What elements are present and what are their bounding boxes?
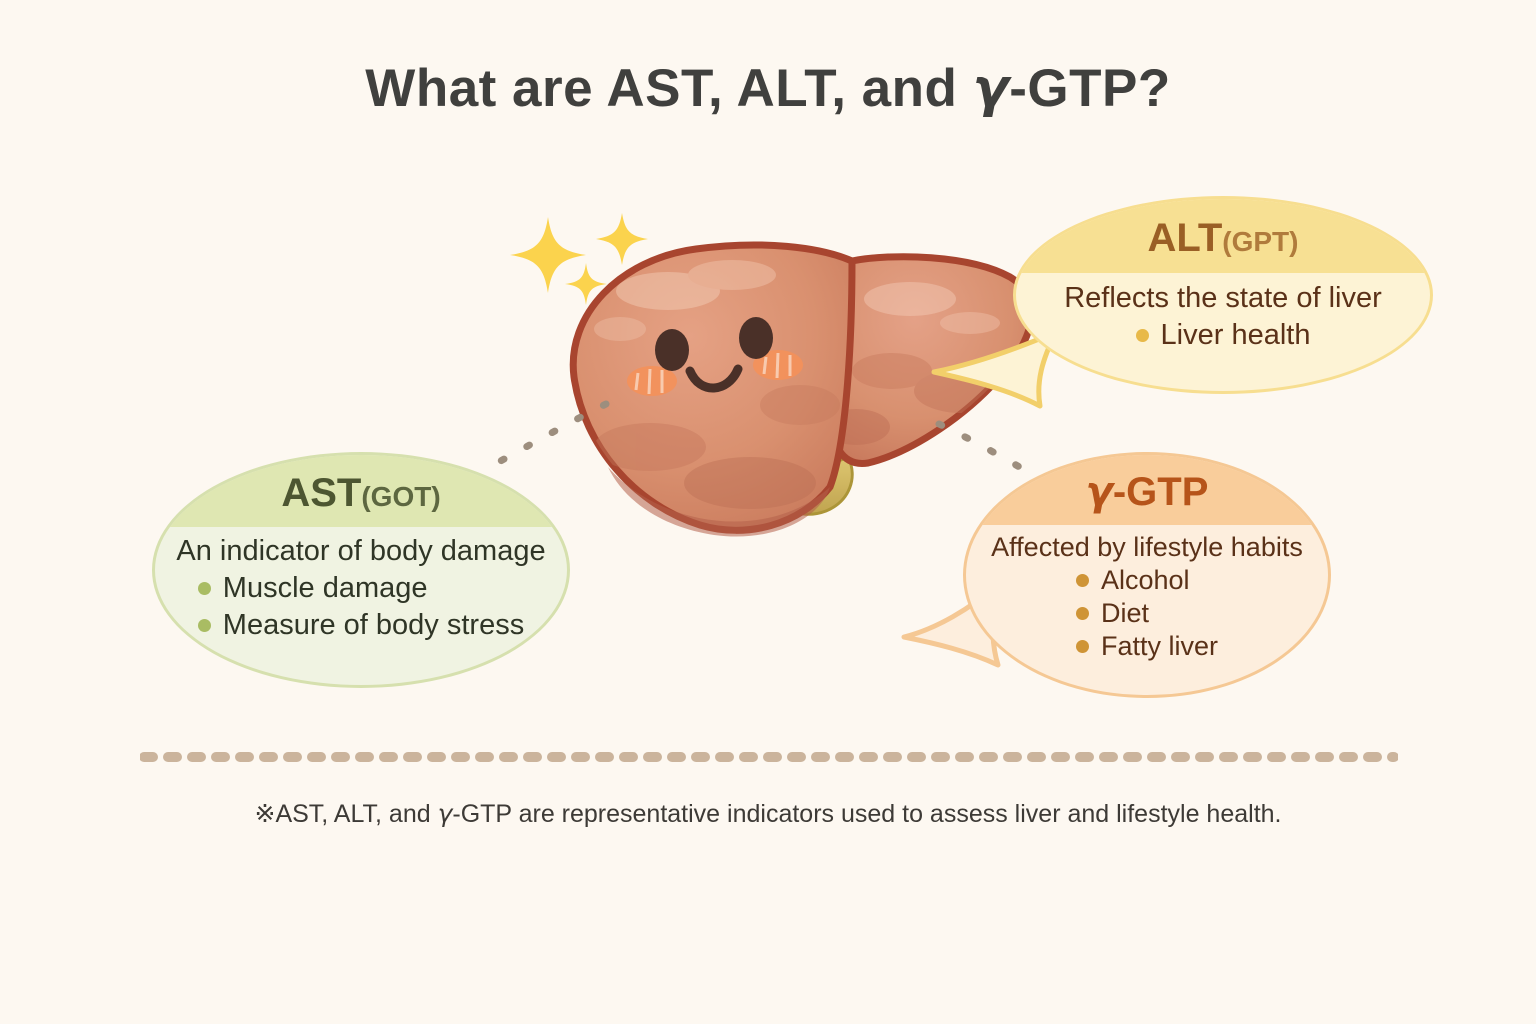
bubble-alt-lead: Reflects the state of liver — [1016, 282, 1430, 315]
infographic-canvas: What are AST, ALT, and γ-GTP? — [0, 0, 1536, 1024]
page-title: What are AST, ALT, and γ-GTP? — [0, 58, 1536, 119]
bubble-alt-body: Reflects the state of liver Liver health — [1016, 273, 1430, 352]
bubble-alt-alias: (GPT) — [1222, 226, 1298, 257]
page-title-suffix: -GTP? — [1009, 59, 1170, 118]
list-item-label: Diet — [1101, 598, 1149, 629]
dotted-divider — [140, 750, 1398, 764]
footnote: ※AST, ALT, and γ-GTP are representative … — [0, 799, 1536, 829]
bubble-ggtp-list: Alcohol Diet Fatty liver — [1076, 563, 1218, 662]
list-item: Diet — [1076, 598, 1218, 629]
bubble-ast-code: AST — [281, 471, 361, 515]
bullet-dot-icon — [198, 582, 211, 595]
sparkle-large-icon — [510, 217, 586, 293]
footnote-suffix: -GTP are representative indicators used … — [452, 800, 1281, 828]
footnote-prefix: AST, ALT, and — [275, 800, 437, 828]
bubble-ast-lead: An indicator of body damage — [155, 535, 567, 568]
bubble-alt-code: ALT — [1147, 216, 1222, 260]
page-title-gamma: γ — [973, 58, 1010, 119]
bubble-ast[interactable]: AST(GOT) An indicator of body damage Mus… — [152, 452, 570, 688]
bubble-ast-list: Muscle damage Measure of body stress — [198, 568, 524, 642]
footnote-mark: ※ — [254, 800, 275, 828]
bubble-alt-header: ALT(GPT) — [1016, 199, 1430, 273]
list-item-label: Liver health — [1161, 319, 1311, 352]
list-item-label: Measure of body stress — [223, 609, 524, 642]
list-item-label: Fatty liver — [1101, 631, 1218, 662]
list-item: Liver health — [1136, 319, 1311, 352]
list-item: Fatty liver — [1076, 631, 1218, 662]
bullet-dot-icon — [1076, 574, 1089, 587]
bubble-ast-body: An indicator of body damage Muscle damag… — [155, 527, 567, 642]
bubble-alt-list: Liver health — [1136, 315, 1311, 352]
list-item: Measure of body stress — [198, 609, 524, 642]
list-item: Alcohol — [1076, 565, 1218, 596]
page-title-prefix: What are AST, ALT, and — [365, 59, 972, 118]
sparkle-medium-icon — [596, 213, 648, 265]
list-item-label: Alcohol — [1101, 565, 1190, 596]
footnote-gamma: γ — [438, 799, 453, 828]
list-item: Muscle damage — [198, 572, 524, 605]
bubble-ggtp-lead: Affected by lifestyle habits — [966, 532, 1328, 563]
bullet-dot-icon — [1076, 607, 1089, 620]
bubble-ast-alias: (GOT) — [361, 481, 440, 512]
bubble-ggtp-code: -GTP — [1113, 470, 1209, 514]
connector-ast — [480, 400, 610, 480]
bullet-dot-icon — [1076, 640, 1089, 653]
bubble-ggtp[interactable]: γ-GTP Affected by lifestyle habits Alcoh… — [963, 452, 1331, 698]
bubble-ggtp-body: Affected by lifestyle habits Alcohol Die… — [966, 525, 1328, 662]
bullet-dot-icon — [198, 619, 211, 632]
bullet-dot-icon — [1136, 329, 1149, 342]
bubble-alt[interactable]: ALT(GPT) Reflects the state of liver Liv… — [1013, 196, 1433, 394]
eye-right — [739, 317, 773, 359]
eye-left — [655, 329, 689, 371]
bubble-ggtp-gamma: γ — [1086, 469, 1113, 515]
list-item-label: Muscle damage — [223, 572, 428, 605]
